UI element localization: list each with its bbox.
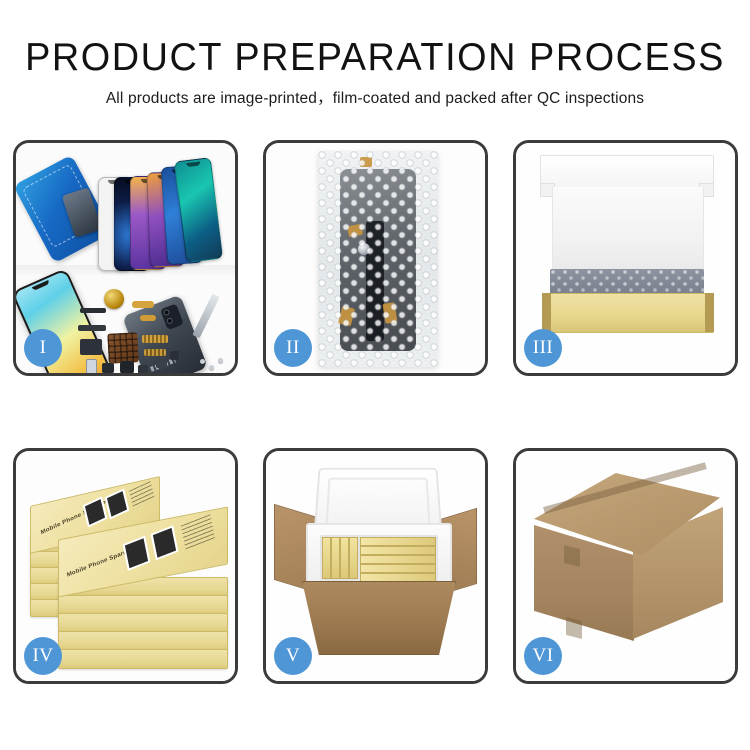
page-header: PRODUCT PREPARATION PROCESS All products… xyxy=(0,0,750,107)
spare-part-graphic xyxy=(78,325,106,331)
process-step-1[interactable]: I xyxy=(13,140,238,376)
step-badge-3: III xyxy=(524,329,562,367)
spare-part-graphic xyxy=(170,351,179,360)
box-lid-graphic xyxy=(540,155,714,191)
spare-part-graphic xyxy=(142,335,168,343)
spare-part-graphic xyxy=(144,349,166,356)
spare-part-graphic xyxy=(80,308,106,313)
spare-part-graphic xyxy=(102,363,114,373)
step-badge-4: IV xyxy=(24,637,62,675)
spare-part-graphic xyxy=(156,357,167,368)
page-subtitle: All products are image-printed，film-coat… xyxy=(0,91,750,107)
process-step-3[interactable]: III xyxy=(513,140,738,376)
spare-part-graphic xyxy=(138,365,148,373)
step-badge-2: II xyxy=(274,329,312,367)
carton-body-graphic xyxy=(302,581,456,655)
process-step-grid: I II xyxy=(13,140,737,684)
box-interior-graphic xyxy=(552,187,704,273)
spare-part-graphic xyxy=(132,301,154,308)
spare-part-graphic xyxy=(140,315,156,321)
spare-part-graphic xyxy=(86,359,97,373)
kraft-box-front-graphic xyxy=(542,293,714,333)
process-step-6[interactable]: VI xyxy=(513,448,738,684)
process-step-4[interactable]: Mobile Phone Spare Parts Mobile Phone Sp… xyxy=(13,448,238,684)
bubble-texture-graphic xyxy=(318,151,438,367)
process-step-5[interactable]: V xyxy=(263,448,488,684)
screws-graphic xyxy=(200,357,226,371)
page-title: PRODUCT PREPARATION PROCESS xyxy=(11,38,739,77)
bubble-wrap-bag-graphic xyxy=(318,151,438,367)
spare-part-graphic xyxy=(120,361,134,373)
step-badge-1: I xyxy=(24,329,62,367)
foam-cavity-graphic xyxy=(320,535,438,581)
carton-tab-graphic xyxy=(564,545,580,567)
phone-lineup-graphic xyxy=(112,155,235,270)
carton-tab-graphic xyxy=(566,617,582,639)
process-step-2[interactable]: II xyxy=(263,140,488,376)
vibration-motor-graphic xyxy=(104,289,124,309)
step-badge-5: V xyxy=(274,637,312,675)
logic-board-graphic xyxy=(107,332,139,364)
step-badge-6: VI xyxy=(524,637,562,675)
spare-part-graphic xyxy=(80,339,102,355)
